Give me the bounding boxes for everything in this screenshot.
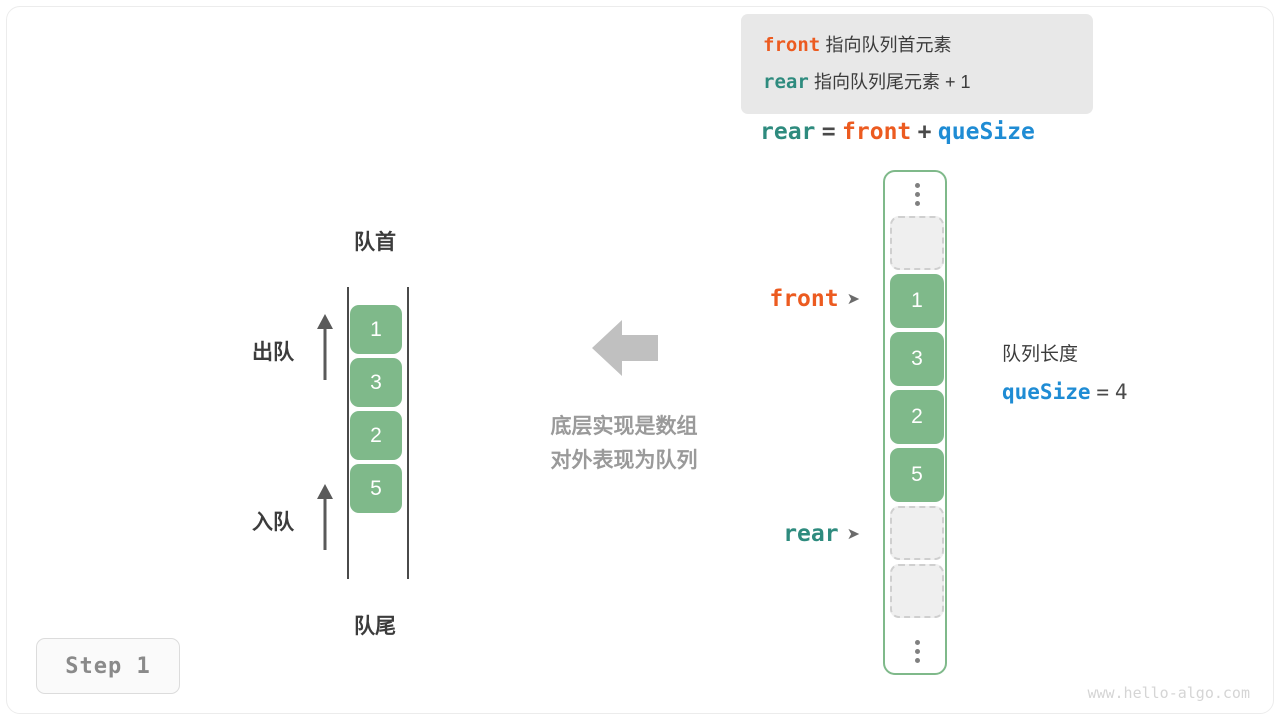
equation-plus-op: + <box>918 119 932 145</box>
pointer-front: front➤ <box>700 285 860 312</box>
enqueue-label: 入队 <box>252 506 294 536</box>
queue-item-1: 3 <box>350 358 402 407</box>
array-container: 1 3 2 5 <box>883 170 947 675</box>
legend-line-front: front 指向队列首元素 <box>763 27 1093 64</box>
center-caption: 底层实现是数组 对外表现为队列 <box>503 410 745 478</box>
legend-line-rear: rear 指向队列尾元素 + 1 <box>763 64 1093 101</box>
legend-text-front: 指向队列首元素 <box>825 35 951 55</box>
array-cell-2: 3 <box>890 332 944 386</box>
pointer-rear-label: rear <box>783 521 838 547</box>
transform-arrow-left-icon <box>592 318 658 378</box>
equation-rhs-front: front <box>842 119 911 145</box>
array-top-ellipsis-icon <box>885 174 949 214</box>
enqueue-arrow-icon <box>316 484 334 550</box>
pointer-rear: rear➤ <box>700 520 860 547</box>
queue-rail-right <box>407 287 409 579</box>
quesize-note-value: 4 <box>1115 380 1128 404</box>
diagram-canvas: front 指向队列首元素 rear 指向队列尾元素 + 1 rear = fr… <box>0 0 1280 720</box>
queue-tail-label: 队尾 <box>330 610 420 640</box>
array-cell-5 <box>890 506 944 560</box>
equation-equals-op: = <box>822 119 836 145</box>
pointer-front-label: front <box>769 286 838 312</box>
center-caption-line2: 对外表现为队列 <box>503 444 745 478</box>
queue-item-2: 2 <box>350 411 402 460</box>
quesize-note-name: queSize <box>1002 380 1091 404</box>
array-cell-3: 2 <box>890 390 944 444</box>
array-bottom-ellipsis-icon <box>885 631 949 671</box>
dequeue-label: 出队 <box>252 336 294 366</box>
watermark: www.hello-algo.com <box>1087 684 1250 702</box>
quesize-note: 队列长度 queSize = 4 <box>1002 340 1128 410</box>
quesize-note-equals: = <box>1096 380 1109 404</box>
center-caption-line1: 底层实现是数组 <box>503 410 745 444</box>
dequeue-arrow-icon <box>316 314 334 380</box>
equation-lhs-rear: rear <box>760 119 815 145</box>
quesize-note-expression: queSize = 4 <box>1002 375 1128 410</box>
pointer-front-arrow-icon: ➤ <box>847 289 860 308</box>
equation-rear-front-quesize: rear = front + queSize <box>760 118 1035 145</box>
quesize-note-label: 队列长度 <box>1002 340 1128 370</box>
queue-head-label: 队首 <box>330 226 420 256</box>
array-cell-6 <box>890 564 944 618</box>
step-badge: Step 1 <box>36 638 180 694</box>
legend-term-rear: rear <box>763 71 809 93</box>
legend-term-front: front <box>763 34 820 56</box>
legend-text-rear: 指向队列尾元素 + 1 <box>814 72 971 92</box>
queue-item-3: 5 <box>350 464 402 513</box>
pointer-rear-arrow-icon: ➤ <box>847 524 860 543</box>
queue-rail-left <box>347 287 349 579</box>
array-cell-1: 1 <box>890 274 944 328</box>
equation-rhs-quesize: queSize <box>938 119 1035 145</box>
array-cell-4: 5 <box>890 448 944 502</box>
queue-item-0: 1 <box>350 305 402 354</box>
array-cell-0 <box>890 216 944 270</box>
legend-box: front 指向队列首元素 rear 指向队列尾元素 + 1 <box>741 14 1093 114</box>
